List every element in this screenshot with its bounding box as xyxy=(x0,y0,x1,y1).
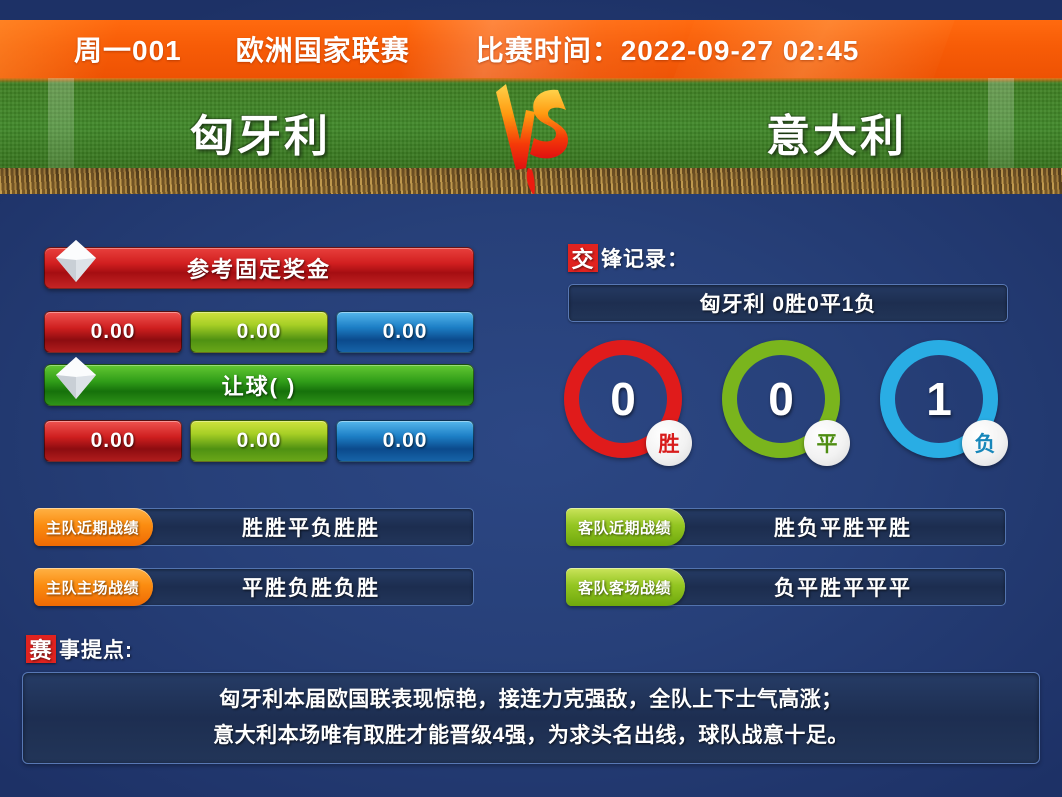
fixed-odds-draw-value: 0.00 xyxy=(237,320,282,344)
handicap-title: 让球( ) xyxy=(222,369,297,401)
handicap-odds-away[interactable]: 0.00 xyxy=(336,420,474,462)
analysis-box: 匈牙利本届欧国联表现惊艳，接连力克强敌，全队上下士气高涨； 意大利本场唯有取胜才… xyxy=(22,672,1040,764)
analysis-title-text: 事提点: xyxy=(59,634,133,664)
handicap-odds-draw-value: 0.00 xyxy=(237,429,282,453)
league-name-label: 欧洲国家联赛 xyxy=(236,29,410,69)
head-to-head-title-badge: 交 xyxy=(568,244,598,272)
fixed-odds-home-value: 0.00 xyxy=(91,320,136,344)
analysis-line-2: 意大利本场唯有取胜才能晋级4强，为求头名出线，球队战意十足。 xyxy=(213,718,849,754)
fixed-odds-draw[interactable]: 0.00 xyxy=(190,311,328,353)
ring-draws: 0 平 xyxy=(722,340,840,458)
away-away-form-tag: 客队客场战绩 xyxy=(566,568,685,606)
away-recent-form-tag: 客队近期战绩 xyxy=(566,508,685,546)
handicap-odds-away-value: 0.00 xyxy=(383,429,428,453)
match-time-label: 比赛时间：2022-09-27 02:45 xyxy=(476,29,860,69)
match-preview-page: 周一001 欧洲国家联赛 比赛时间：2022-09-27 02:45 匈牙利 意… xyxy=(0,0,1062,797)
away-recent-form-row: 胜负平胜平胜 客队近期战绩 xyxy=(566,508,1006,546)
home-home-form-tag: 主队主场战绩 xyxy=(34,568,153,606)
match-round-label: 周一001 xyxy=(74,29,182,69)
pitch-line-right xyxy=(988,78,1014,170)
home-recent-form-tag: 主队近期战绩 xyxy=(34,508,153,546)
ring-losses-badge: 负 xyxy=(962,420,1008,466)
handicap-odds-draw[interactable]: 0.00 xyxy=(190,420,328,462)
home-team-name: 匈牙利 xyxy=(190,100,331,164)
home-recent-form-value: 胜胜平负胜胜 xyxy=(108,508,474,546)
fixed-odds-away[interactable]: 0.00 xyxy=(336,311,474,353)
analysis-title-badge: 赛 xyxy=(26,635,56,663)
handicap-odds-home-value: 0.00 xyxy=(91,429,136,453)
header-bar: 周一001 欧洲国家联赛 比赛时间：2022-09-27 02:45 xyxy=(0,20,1062,78)
diamond-icon-handicap xyxy=(54,355,98,401)
head-to-head-title-text: 锋记录： xyxy=(601,243,689,273)
head-to-head-title: 交 锋记录： xyxy=(568,243,689,273)
fixed-prize-title: 参考固定奖金 xyxy=(187,252,331,284)
home-recent-form-row: 胜胜平负胜胜 主队近期战绩 xyxy=(34,508,474,546)
away-recent-form-value: 胜负平胜平胜 xyxy=(640,508,1006,546)
analysis-title: 赛 事提点: xyxy=(26,634,133,664)
diamond-icon-fixed xyxy=(54,238,98,284)
vs-icon xyxy=(486,78,582,194)
fixed-prize-title-bar: 参考固定奖金 xyxy=(44,247,474,289)
ring-wins-badge: 胜 xyxy=(646,420,692,466)
ring-wins: 0 胜 xyxy=(564,340,682,458)
ring-losses: 1 负 xyxy=(880,340,998,458)
away-away-form-value: 负平胜平平平 xyxy=(640,568,1006,606)
ring-draws-badge: 平 xyxy=(804,420,850,466)
away-team-name: 意大利 xyxy=(766,100,907,164)
home-home-form-row: 平胜负胜负胜 主队主场战绩 xyxy=(34,568,474,606)
pitch-banner: 匈牙利 意大利 xyxy=(0,78,1062,194)
handicap-odds-home[interactable]: 0.00 xyxy=(44,420,182,462)
away-away-form-row: 负平胜平平平 客队客场战绩 xyxy=(566,568,1006,606)
handicap-title-bar: 让球( ) xyxy=(44,364,474,406)
home-home-form-value: 平胜负胜负胜 xyxy=(108,568,474,606)
fixed-odds-home[interactable]: 0.00 xyxy=(44,311,182,353)
pitch-line-left xyxy=(48,78,74,170)
fixed-odds-away-value: 0.00 xyxy=(383,320,428,344)
head-to-head-summary-bar: 匈牙利 0胜0平1负 xyxy=(568,284,1008,322)
head-to-head-summary: 匈牙利 0胜0平1负 xyxy=(700,288,877,318)
analysis-line-1: 匈牙利本届欧国联表现惊艳，接连力克强敌，全队上下士气高涨； xyxy=(219,682,843,718)
